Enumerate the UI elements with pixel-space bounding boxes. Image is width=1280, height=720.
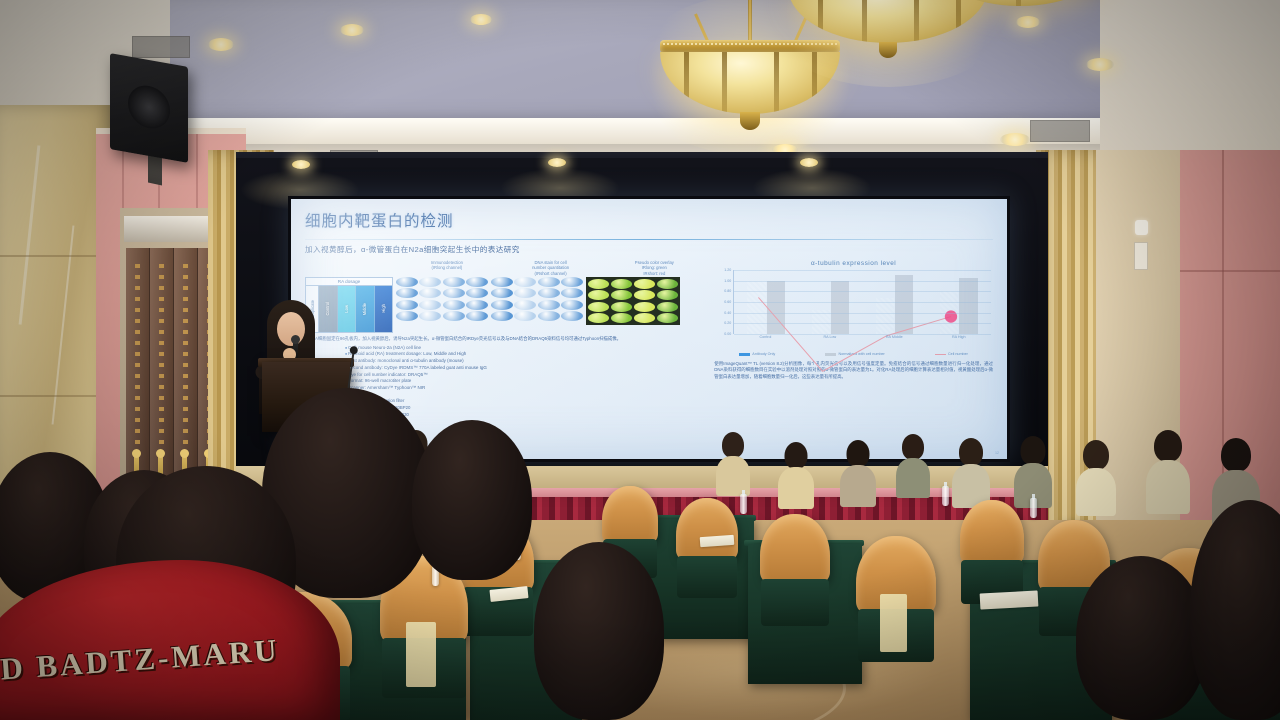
wall-switch-plate: [1134, 242, 1148, 270]
conference-room-photo: 细胞内靶蛋白的检测 加入视黄醇后，α-微管蛋白在N2a细胞突起生长中的表达研究 …: [0, 0, 1280, 720]
ceiling-air-vent: [132, 36, 190, 58]
audience-member: [1076, 440, 1116, 516]
water-bottle[interactable]: [1030, 498, 1037, 518]
chart-title: α-tubulin expression level: [714, 260, 993, 267]
stage-spotlight: [800, 158, 818, 167]
chart-y-tick: 0.40: [724, 311, 731, 315]
chart-y-tick: 0.60: [724, 300, 731, 304]
water-bottle[interactable]: [740, 494, 747, 514]
ceiling-downlight: [340, 24, 364, 36]
chart-y-tick: 1.20: [724, 268, 731, 272]
slide-title: 细胞内靶蛋白的检测: [305, 209, 993, 231]
water-bottle[interactable]: [942, 486, 949, 506]
foreground-audience-head: [1076, 556, 1206, 720]
handout-paper[interactable]: [980, 590, 1039, 609]
plate-column-headers: Immunodetection (IRlong channel) DNA sta…: [305, 260, 706, 276]
expression-bar-chart: 0.000.200.400.600.801.001.20 ControlRA L…: [714, 270, 993, 346]
chandelier-tertiary: [930, 0, 1110, 44]
dose-label-high: High: [381, 304, 386, 313]
audience-chair[interactable]: [856, 536, 936, 662]
method-bullet: Second antibody: CyDye IRDMS™ 770A label…: [345, 365, 706, 372]
slide-divider: [305, 239, 993, 240]
audience-member: [778, 442, 814, 508]
cell-number-line: [734, 270, 991, 434]
slide-right-panel: α-tubulin expression level 0.000.200.400…: [714, 260, 993, 427]
chart-gridline: [734, 291, 991, 292]
ceiling-downlight: [1086, 58, 1114, 71]
audience-chair[interactable]: [960, 500, 1024, 604]
method-bullet: Cell: mouse Neuro-2a (N2A) cell line: [345, 345, 706, 352]
chart-x-tick: RA Middle: [872, 335, 916, 339]
wall-speaker: [110, 53, 188, 163]
dose-col-high: High: [375, 286, 393, 332]
column-header-dna-stain: DNA stain for cell number quantitation (…: [499, 260, 603, 276]
chair-sash: [880, 594, 907, 652]
chart-gridline: [734, 270, 991, 271]
chart-y-tick: 0.20: [724, 321, 731, 325]
method-bullet: First antibody: monoclonal anti α-tubuli…: [345, 358, 706, 365]
column-header-overlay: Pseudo color overlay IRlong: green IRsho…: [602, 260, 706, 276]
dose-col-low: Low: [338, 286, 357, 332]
audience-chair[interactable]: [760, 514, 830, 626]
method-bullet: Dye for cell number indicator: DRAQ5™: [345, 372, 706, 379]
chart-x-labels: ControlRA LowRA MiddleRA High: [733, 335, 991, 339]
chart-y-axis: 0.000.200.400.600.801.001.20: [714, 270, 732, 334]
slide-caption-cn: 将N2A细胞固定在96孔板内，加入视黄醇后，诱导N2a突起生长。α-微管蛋白结合…: [305, 336, 706, 342]
foreground-audience-head: [534, 542, 664, 720]
chart-y-tick: 0.00: [724, 332, 731, 336]
dose-label-low: Low: [344, 305, 349, 313]
method-bullet: Scanner: Amersham™ Typhoon™ NIR: [345, 385, 706, 392]
chart-x-tick: RA Low: [808, 335, 852, 339]
dose-col-middle: Middle: [356, 286, 375, 332]
chart-y-tick: 1.00: [724, 279, 731, 283]
slide-subtitle: 加入视黄醇后，α-微管蛋白在N2a细胞突起生长中的表达研究: [305, 244, 993, 255]
chair-sash: [406, 622, 436, 687]
audience-member: [1146, 430, 1190, 514]
ceiling-downlight: [208, 38, 234, 51]
dose-label-middle: Middle: [362, 303, 367, 315]
chart-gridline: [734, 313, 991, 314]
ra-dosage-header: RA dosage: [306, 278, 392, 286]
chart-x-tick: Control: [744, 335, 788, 339]
chart-y-tick: 0.80: [724, 289, 731, 293]
chart-x-tick: RA High: [937, 335, 981, 339]
audience-member: [952, 438, 990, 508]
column-header-immunodetection: Immunodetection (IRlong channel): [395, 260, 499, 276]
audience-chair[interactable]: [676, 498, 738, 598]
ceiling-downlight: [1000, 133, 1030, 146]
chart-gridline: [734, 323, 991, 324]
chart-gridline: [734, 281, 991, 282]
ceiling-downlight: [470, 14, 492, 25]
method-bullet-list: Cell: mouse Neuro-2a (N2A) cell lineReti…: [305, 345, 706, 392]
plate-image-immunodetection: [396, 277, 488, 322]
audience-member: [896, 434, 930, 498]
stage-spotlight: [292, 160, 310, 169]
stage-spotlight: [548, 158, 566, 167]
chart-gridline: [734, 302, 991, 303]
plate-image-dna-stain: [491, 277, 583, 322]
emergency-light-icon: [1135, 220, 1148, 235]
speaker-cone-icon: [128, 82, 170, 131]
plate-image-pseudo-overlay: [586, 277, 680, 326]
audience-member: [716, 432, 750, 496]
method-bullet: Format: 96-well macrotiter plate: [345, 378, 706, 385]
method-bullet: Retinoid acid (RA) treatment dosage: Low…: [345, 351, 706, 358]
chart-plot-area: [733, 270, 991, 334]
foreground-audience-head: [412, 420, 532, 580]
audience-member: [840, 440, 876, 506]
ceiling-air-vent: [1030, 120, 1090, 142]
slide-page-number: 12: [995, 451, 999, 455]
